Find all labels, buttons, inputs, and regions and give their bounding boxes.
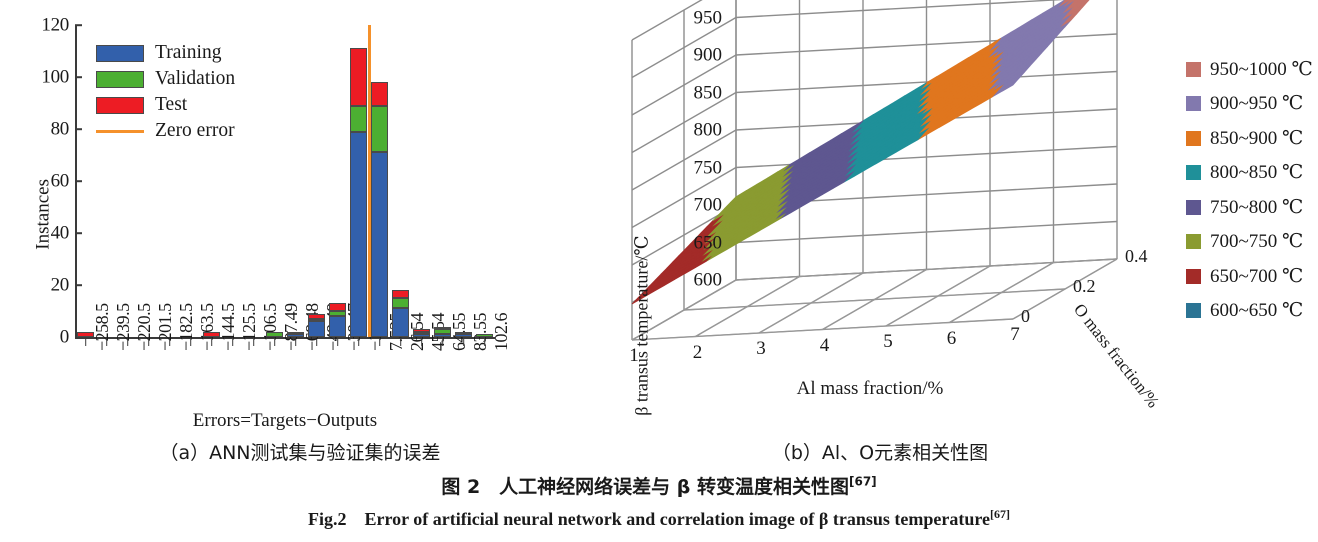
temperature-band-legend: 950~1000 ℃900~950 ℃850~900 ℃800~850 ℃750…: [1186, 52, 1316, 328]
histogram-bar-segment-training: [287, 334, 304, 337]
x-tick-mark: [106, 339, 108, 346]
histogram-bar-segment-validation: [434, 329, 451, 334]
histogram-bar-segment-training: [392, 308, 409, 337]
x-tick-mark: [442, 339, 444, 346]
histogram-bar-segment-validation: [308, 319, 325, 322]
histogram-bar: [455, 332, 472, 337]
x-tick-label: −163.5: [198, 303, 216, 351]
temperature-legend-swatch: [1186, 62, 1201, 77]
panel-a-x-axis-title: Errors=Targets−Outputs: [75, 410, 495, 432]
histogram-bar-segment-test: [203, 332, 220, 337]
histogram-bar: [329, 303, 346, 337]
temperature-legend-label: 700~750 ℃: [1210, 232, 1303, 251]
x-tick-mark: [190, 339, 192, 346]
histogram-bar-segment-training: [350, 132, 367, 337]
histogram-bar: [77, 332, 94, 337]
y-tick-label: 0: [1021, 307, 1030, 325]
y-tick-label: 0: [29, 328, 69, 347]
x-tick-mark: [253, 339, 255, 346]
legend-item-test: Test: [96, 92, 235, 118]
z-tick-label: 600: [658, 271, 722, 290]
x-tick-mark: [379, 339, 381, 346]
histogram-bar-segment-test: [308, 314, 325, 319]
temperature-legend-label: 800~850 ℃: [1210, 163, 1303, 182]
y-tick-label: 80: [29, 120, 69, 139]
x-tick-label: 6: [947, 329, 957, 348]
legend-item-validation: Validation: [96, 66, 235, 92]
histogram-bar-segment-test: [392, 290, 409, 298]
histogram-bar-segment-validation: [476, 334, 493, 337]
grid-line: [684, 289, 1065, 310]
y-tick-mark: [75, 128, 82, 130]
temperature-legend-label: 850~900 ℃: [1210, 129, 1303, 148]
x-tick-mark: [127, 339, 129, 346]
panel-b-x-axis-title: Al mass fraction/%: [720, 378, 1020, 400]
x-tick-mark: [484, 339, 486, 346]
histogram-bar-segment-training: [455, 334, 472, 337]
histogram-bar: [434, 327, 451, 337]
y-tick-label: 100: [29, 68, 69, 87]
x-tick-mark: [316, 339, 318, 346]
y-tick-label: 120: [29, 16, 69, 35]
x-tick-mark: [337, 339, 339, 346]
y-tick-label: 40: [29, 224, 69, 243]
legend-color-swatch: [96, 97, 144, 114]
temperature-legend-item: 950~1000 ℃: [1186, 52, 1316, 87]
y-tick-label: 0.4: [1125, 247, 1148, 265]
legend-item-label: Validation: [155, 69, 235, 89]
panel-b-z-axis-title: β transus temperature/℃: [632, 236, 653, 416]
histogram-bar-segment-training: [371, 152, 388, 337]
y-tick-mark: [75, 180, 82, 182]
legend-item-zero-error: Zero error: [96, 118, 235, 144]
histogram-bar: [203, 332, 220, 337]
temperature-legend-swatch: [1186, 200, 1201, 215]
histogram-bar-segment-training: [413, 334, 430, 337]
histogram-bar: [476, 334, 493, 337]
x-tick-label: −87.49: [282, 303, 300, 351]
x-tick-label: −144.5: [219, 303, 237, 351]
x-tick-mark: [463, 339, 465, 346]
histogram-bar-segment-validation: [266, 332, 283, 337]
figure-caption-chinese: 图 2 人工神经网络误差与 β 转变温度相关性图[67]: [0, 472, 1318, 499]
temperature-legend-label: 650~700 ℃: [1210, 267, 1303, 286]
histogram-bar-segment-validation: [350, 106, 367, 132]
figure-caption-chinese-text: 图 2 人工神经网络误差与 β 转变温度相关性图: [441, 476, 849, 498]
histogram-bar-segment-training: [308, 321, 325, 337]
histogram-bar-segment-test: [413, 329, 430, 332]
z-tick-label: 700: [658, 196, 722, 215]
temperature-legend-item: 800~850 ℃: [1186, 156, 1316, 191]
temperature-legend-label: 950~1000 ℃: [1210, 60, 1313, 79]
histogram-bar-segment-test: [287, 332, 304, 335]
temperature-legend-label: 750~800 ℃: [1210, 198, 1303, 217]
temperature-legend-swatch: [1186, 96, 1201, 111]
x-tick-mark: [400, 339, 402, 346]
histogram-bar-segment-training: [434, 334, 451, 337]
legend-item-label: Test: [155, 95, 187, 115]
surface-svg: [560, 0, 1180, 400]
histogram-bar-segment-test: [434, 327, 451, 330]
y-tick-mark: [75, 76, 82, 78]
x-tick-label: −106.5: [261, 303, 279, 351]
x-tick-label: 2: [693, 343, 703, 362]
panel-a-sub-caption: （a）ANN测试集与验证集的误差: [40, 438, 560, 465]
histogram-bar: [371, 82, 388, 337]
legend-item-training: Training: [96, 40, 235, 66]
legend-color-swatch: [96, 45, 144, 62]
x-tick-label: −258.5: [93, 303, 111, 351]
x-tick-label: −182.5: [177, 303, 195, 351]
z-tick-label: 800: [658, 121, 722, 140]
z-tick-label: 750: [658, 158, 722, 177]
panel-a-error-histogram: Instances 020406080100120−258.5−239.5−22…: [0, 0, 600, 470]
figure-root: Instances 020406080100120−258.5−239.5−22…: [0, 0, 1318, 542]
temperature-legend-item: 750~800 ℃: [1186, 190, 1316, 225]
temperature-legend-swatch: [1186, 269, 1201, 284]
x-tick-mark: [211, 339, 213, 346]
histogram-bar-segment-test: [455, 332, 472, 335]
histogram-bar: [287, 332, 304, 337]
histogram-bar-segment-test: [350, 48, 367, 105]
x-tick-mark: [232, 339, 234, 346]
x-tick-mark: [169, 339, 171, 346]
histogram-bar-segment-test: [371, 82, 388, 105]
figure-caption-english-text: Fig.2 Error of artificial neural network…: [308, 509, 990, 529]
x-tick-mark: [148, 339, 150, 346]
y-tick-label: 20: [29, 276, 69, 295]
z-tick-label: 850: [658, 83, 722, 102]
temperature-legend-item: 650~700 ℃: [1186, 259, 1316, 294]
histogram-bar-segment-validation: [371, 106, 388, 153]
x-tick-mark: [358, 339, 360, 346]
y-tick-mark: [75, 24, 82, 26]
panel-b-surface-plot: β transus temperature/℃ 6006507007508008…: [560, 0, 1200, 470]
figure-caption-english: Fig.2 Error of artificial neural network…: [0, 505, 1318, 531]
histogram-bar: [350, 48, 367, 337]
y-tick-label: 0.2: [1073, 277, 1096, 295]
temperature-legend-swatch: [1186, 131, 1201, 146]
legend-color-swatch: [96, 71, 144, 88]
x-tick-label: −201.5: [156, 303, 174, 351]
x-tick-mark: [295, 339, 297, 346]
histogram-bar-segment-validation: [413, 332, 430, 335]
histogram-bar: [392, 290, 409, 337]
histogram-bar: [266, 332, 283, 337]
temperature-legend-label: 600~650 ℃: [1210, 301, 1303, 320]
y-tick-mark: [75, 284, 82, 286]
x-tick-label: 102.6: [492, 313, 510, 351]
x-tick-mark: [421, 339, 423, 346]
histogram-bar-segment-training: [329, 316, 346, 337]
x-tick-label: 7: [1010, 325, 1020, 344]
x-tick-label: 4: [820, 336, 830, 355]
temperature-legend-item: 900~950 ℃: [1186, 87, 1316, 122]
temperature-legend-item: 700~750 ℃: [1186, 225, 1316, 260]
panel-b-sub-caption: （b）Al、O元素相关性图: [600, 438, 1160, 465]
z-tick-label: 650: [658, 233, 722, 252]
x-tick-label: −125.5: [240, 303, 258, 351]
legend-item-label: Zero error: [155, 121, 235, 141]
temperature-legend-item: 850~900 ℃: [1186, 121, 1316, 156]
legend-item-label: Training: [155, 43, 221, 63]
figure-caption-english-ref: [67]: [990, 507, 1010, 521]
legend-line-swatch: [96, 130, 144, 133]
temperature-legend-swatch: [1186, 303, 1201, 318]
x-tick-label: 3: [756, 339, 766, 358]
y-axis-line: [75, 25, 77, 339]
temperature-legend-label: 900~950 ℃: [1210, 94, 1303, 113]
x-tick-label: 1: [629, 346, 639, 365]
histogram-bar-segment-test: [329, 303, 346, 311]
histogram-bar: [308, 314, 325, 337]
figure-caption-chinese-ref: [67]: [849, 475, 877, 489]
z-tick-label: 900: [658, 46, 722, 65]
x-tick-mark: [274, 339, 276, 346]
y-tick-label: 60: [29, 172, 69, 191]
panel-a-legend: TrainingValidationTestZero error: [96, 40, 235, 144]
histogram-bar-segment-test: [77, 332, 94, 337]
x-tick-label: −239.5: [114, 303, 132, 351]
z-tick-label: 950: [658, 8, 722, 27]
histogram-bar-segment-validation: [329, 311, 346, 316]
x-tick-label: 83.55: [471, 313, 489, 351]
zero-error-line: [368, 25, 371, 337]
x-tick-label: −220.5: [135, 303, 153, 351]
temperature-legend-swatch: [1186, 234, 1201, 249]
x-tick-mark: [85, 339, 87, 346]
histogram-bar: [413, 329, 430, 337]
temperature-legend-swatch: [1186, 165, 1201, 180]
y-tick-mark: [75, 232, 82, 234]
histogram-bar-segment-validation: [392, 298, 409, 308]
x-tick-label: 5: [883, 332, 893, 351]
temperature-legend-item: 600~650 ℃: [1186, 294, 1316, 329]
